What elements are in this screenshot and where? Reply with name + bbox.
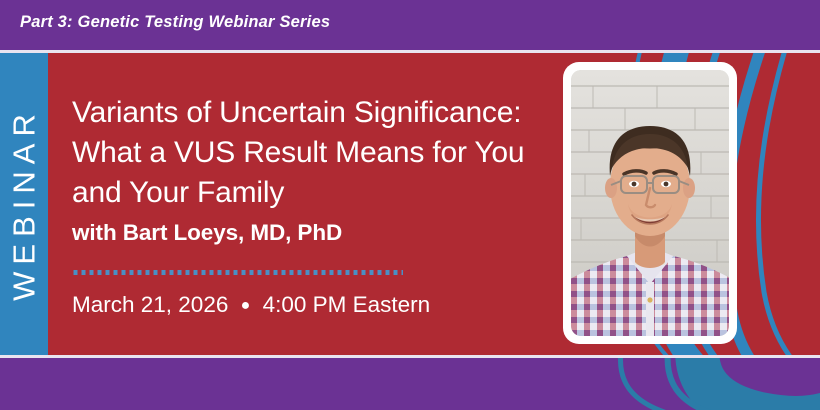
bottom-rule-divider: [0, 355, 820, 358]
webinar-promo-banner: WEBINAR Part 3: Genetic Testing Webinar …: [0, 0, 820, 410]
webinar-rail: WEBINAR: [0, 53, 48, 355]
bullet-separator-icon: ●: [235, 297, 257, 315]
series-eyebrow-text: Part 3: Genetic Testing Webinar Series: [20, 13, 330, 32]
webinar-title-line-1: Variants of Uncertain Significance:: [72, 93, 542, 133]
speaker-line: with Bart Loeys, MD, PhD: [72, 220, 342, 246]
webinar-title: Variants of Uncertain Significance: What…: [72, 93, 542, 213]
bottom-purple-band: [0, 358, 820, 410]
dotted-divider: [72, 270, 404, 275]
date-time-line: March 21, 2026 ● 4:00 PM Eastern: [72, 292, 430, 318]
webinar-time: 4:00 PM Eastern: [263, 292, 431, 317]
webinar-title-line-2: What a VUS Result Means for You: [72, 133, 542, 173]
webinar-title-line-3: and Your Family: [72, 173, 542, 213]
webinar-rail-label: WEBINAR: [9, 107, 40, 301]
speaker-portrait-frame: [563, 62, 737, 344]
copy-block: Variants of Uncertain Significance: What…: [72, 53, 542, 355]
webinar-date: March 21, 2026: [72, 292, 228, 317]
speaker-portrait-image: [571, 70, 729, 336]
